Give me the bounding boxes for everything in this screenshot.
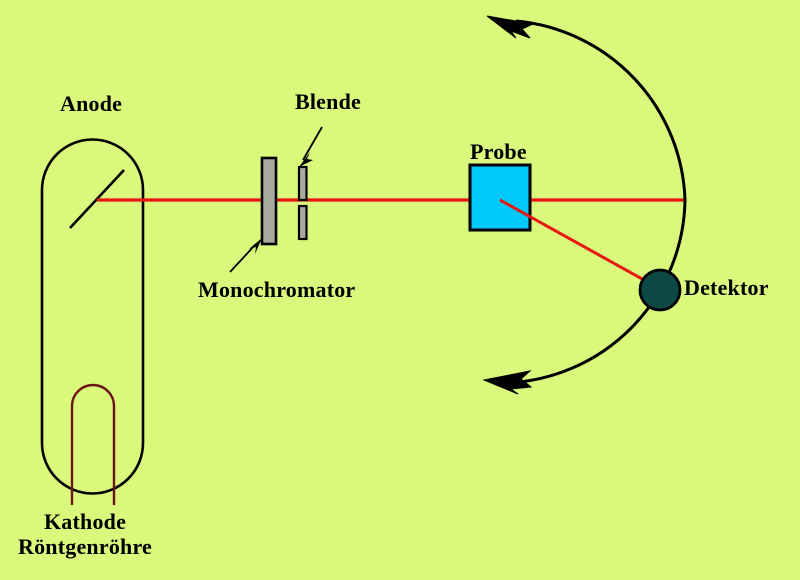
monochromator-callout-arrowhead-icon: [249, 238, 262, 254]
cathode-filament-group[interactable]: [72, 385, 114, 505]
label-roentgenroehre: Röntgenröhre: [18, 535, 152, 558]
xray-diffractometer-diagram: [0, 0, 800, 580]
goniometer-arc-path: [505, 21, 685, 383]
monochromator-block[interactable]: [262, 158, 276, 244]
probe-sample-square[interactable]: [470, 165, 530, 230]
cathode-filament-loop: [72, 385, 114, 505]
xray-tube-group[interactable]: [42, 139, 143, 493]
detector-circle[interactable]: [640, 270, 680, 310]
arc-arrow-top-icon: [487, 16, 533, 38]
label-kathode: Kathode: [44, 510, 126, 533]
blende-lower-bar[interactable]: [299, 206, 307, 239]
label-blende: Blende: [295, 90, 361, 113]
blende-upper-bar[interactable]: [299, 167, 307, 200]
blende-callout-line: [303, 127, 322, 160]
monochromator-callout-line: [230, 244, 256, 272]
arc-arrow-bottom-icon: [484, 371, 531, 394]
xray-tube-outline: [42, 139, 143, 493]
diffracted-beam: [500, 200, 662, 290]
diagram-canvas: Anode Blende Monochromator Probe Detekto…: [0, 0, 800, 580]
label-anode: Anode: [60, 92, 122, 115]
label-monochromator: Monochromator: [198, 278, 355, 301]
monochromator-callout-arrow: [230, 238, 262, 272]
blende-callout-arrow: [299, 127, 322, 167]
label-probe: Probe: [470, 140, 527, 163]
label-detektor: Detektor: [684, 276, 769, 299]
